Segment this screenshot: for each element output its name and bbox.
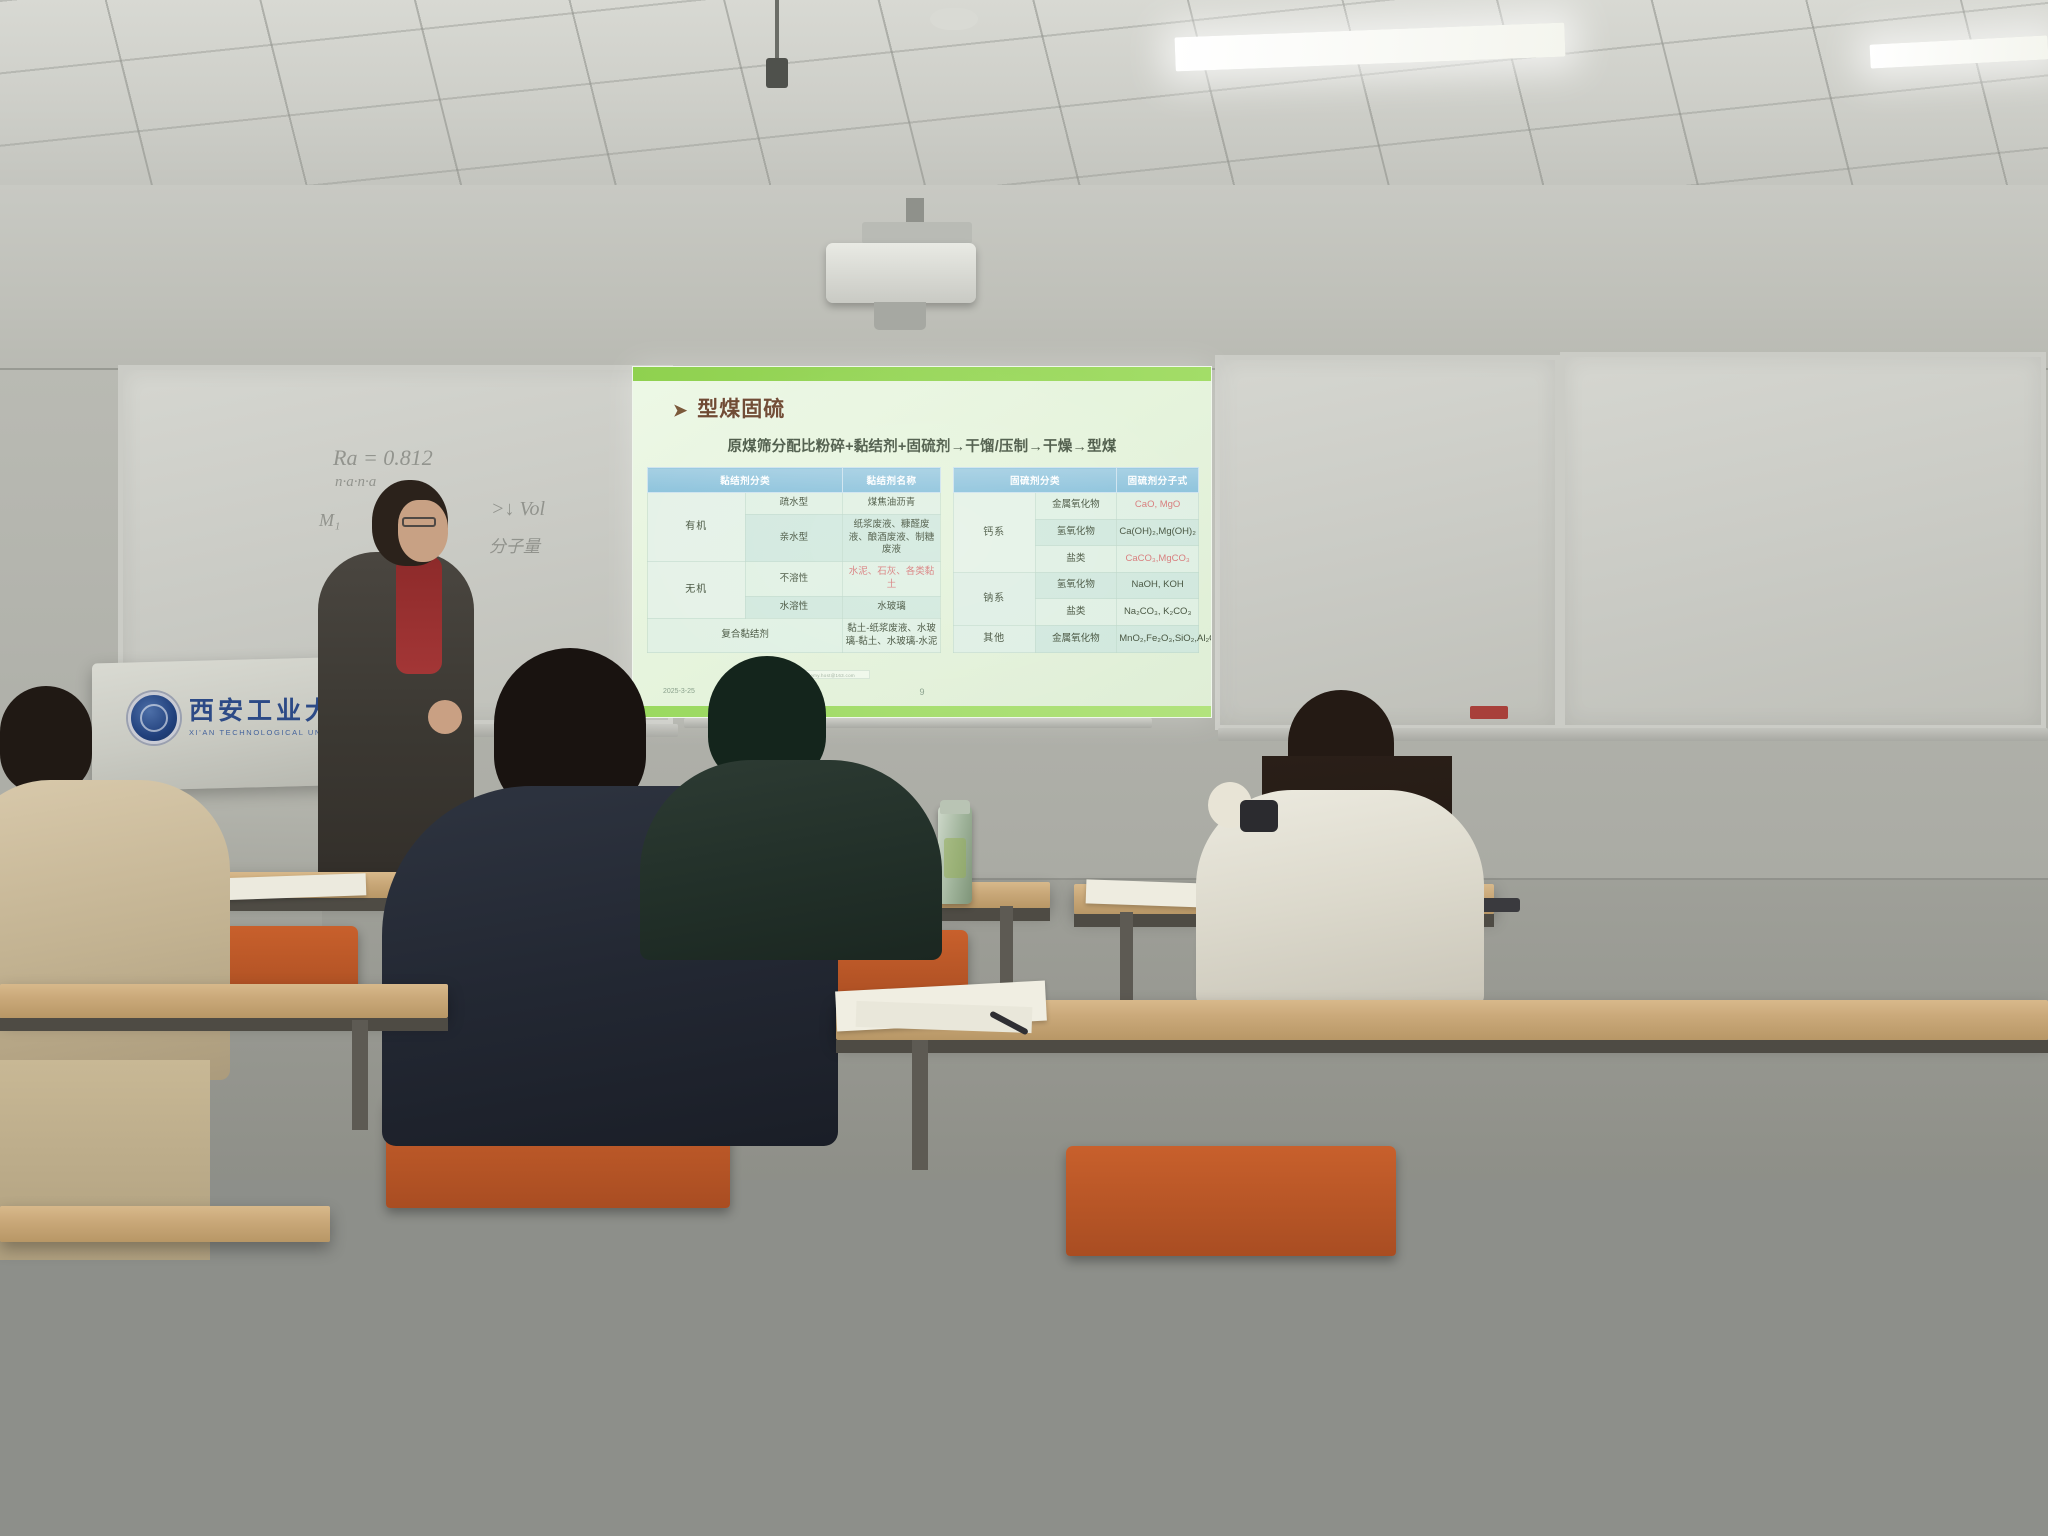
slide-title-text: 型煤固硫 bbox=[697, 398, 785, 421]
fixative-col-formula: 固硫剂分子式 bbox=[1117, 468, 1199, 493]
fixative-type: 盐类 bbox=[1035, 546, 1117, 573]
table-row: 复合黏结剂 黏土-纸浆废液、水玻璃-黏土、水玻璃-水泥 bbox=[648, 618, 941, 653]
whiteboard-right bbox=[1215, 355, 1560, 730]
table-row: 无机 不溶性 水泥、石灰、各类黏土 bbox=[648, 562, 941, 597]
desk-row-front-left bbox=[0, 984, 448, 1018]
glasses-icon bbox=[402, 517, 436, 527]
slide-tables: 黏结剂分类 黏结剂名称 有机 疏水型 煤焦油沥青 亲水型 纸浆废液、糠醛废液、酿… bbox=[647, 467, 1199, 653]
fixative-type: 氢氧化物 bbox=[1035, 519, 1117, 546]
marker-red-icon[interactable] bbox=[1470, 706, 1508, 719]
thermos-lid[interactable] bbox=[940, 800, 970, 814]
fixative-formula: Na₂CO₃, K₂CO₃ bbox=[1117, 599, 1199, 626]
binder-type: 疏水型 bbox=[745, 493, 843, 515]
binder-name: 水玻璃 bbox=[843, 596, 941, 618]
table-row: 钠系 氢氧化物 NaOH, KOH bbox=[953, 572, 1198, 599]
desk-leg bbox=[912, 1040, 928, 1170]
table-row: 钙系 金属氧化物 CaO, MgO bbox=[953, 493, 1198, 520]
binder-type: 水溶性 bbox=[745, 596, 843, 618]
ceiling bbox=[0, 0, 2048, 200]
fixative-type: 金属氧化物 bbox=[1035, 493, 1117, 520]
attendee-head bbox=[0, 686, 92, 794]
binder-group-inorganic: 无机 bbox=[648, 562, 746, 618]
slide-subtitle: 原煤筛分配比粉碎+黏结剂+固硫剂→干馏/压制→干燥→型煤 bbox=[633, 435, 1211, 456]
presentation-slide: ➤型煤固硫 原煤筛分配比粉碎+黏结剂+固硫剂→干馏/压制→干燥→型煤 黏结剂分类… bbox=[633, 367, 1211, 717]
chair[interactable] bbox=[1066, 1146, 1396, 1256]
ceiling-cable-box bbox=[766, 58, 788, 88]
desk-leg bbox=[1120, 912, 1133, 1002]
binder-col-classification: 黏结剂分类 bbox=[648, 468, 843, 493]
desk-row-foreground bbox=[0, 1206, 330, 1242]
binder-type-composite: 复合黏结剂 bbox=[648, 618, 843, 653]
whiteboard-far-right bbox=[1560, 352, 2046, 730]
sulfur-fixative-table: 固硫剂分类 固硫剂分子式 钙系 金属氧化物 CaO, MgO 氢氧化物 Ca(O… bbox=[953, 467, 1199, 653]
whiteboard-note: M₁ bbox=[319, 510, 340, 531]
fixative-formula: CaCO₃,MgCO₃ bbox=[1117, 546, 1199, 573]
slide-top-bar bbox=[633, 367, 1211, 381]
ceiling-tile-grid bbox=[0, 0, 2048, 200]
whiteboard-note: >↓ Vol bbox=[491, 498, 545, 521]
fixative-formula: MnO₂,Fe₂O₃,SiO₂,Al₂O₃ bbox=[1117, 625, 1199, 652]
classroom-scene: Ra = 0.812 n·a·n·a M₁ >↓ Vol 分子量 ➤型煤固硫 原… bbox=[0, 0, 2048, 1536]
attendee-body bbox=[640, 760, 942, 960]
desk-leg bbox=[352, 1020, 368, 1130]
fixative-formula: NaOH, KOH bbox=[1117, 572, 1199, 599]
projector bbox=[826, 243, 976, 303]
binder-name: 煤焦油沥青 bbox=[843, 493, 941, 515]
table-row: 有机 疏水型 煤焦油沥青 bbox=[648, 493, 941, 515]
teacher-hand bbox=[428, 700, 462, 734]
whiteboard-note: 分子量 bbox=[489, 532, 540, 557]
fixative-group-sodium: 钠系 bbox=[953, 572, 1035, 625]
projection-screen: ➤型煤固硫 原煤筛分配比粉碎+黏结剂+固硫剂→干馏/压制→干燥→型煤 黏结剂分类… bbox=[632, 366, 1212, 718]
binder-name: 水泥、石灰、各类黏土 bbox=[843, 562, 941, 597]
table-row: 其他 金属氧化物 MnO₂,Fe₂O₃,SiO₂,Al₂O₃ bbox=[953, 625, 1198, 652]
thermos-tea-contents bbox=[944, 838, 966, 878]
university-emblem-icon bbox=[128, 692, 180, 744]
binder-type: 不溶性 bbox=[745, 562, 843, 597]
binder-name: 纸浆废液、糠醛废液、酿酒废液、制糖废液 bbox=[843, 514, 941, 561]
fixative-col-classification: 固硫剂分类 bbox=[953, 468, 1116, 493]
teacher-face bbox=[398, 500, 448, 562]
table-header-row: 固硫剂分类 固硫剂分子式 bbox=[953, 468, 1198, 493]
whiteboard-note: n·a·n·a bbox=[335, 474, 376, 491]
projector-arm bbox=[862, 222, 972, 244]
binder-table: 黏结剂分类 黏结剂名称 有机 疏水型 煤焦油沥青 亲水型 纸浆废液、糠醛废液、酿… bbox=[647, 467, 941, 653]
binder-group-organic: 有机 bbox=[648, 493, 746, 562]
ceiling-cable bbox=[775, 0, 779, 62]
teacher-scarf bbox=[396, 556, 442, 674]
fixative-type: 氢氧化物 bbox=[1035, 572, 1117, 599]
fixative-group-calcium: 钙系 bbox=[953, 493, 1035, 573]
attendee-arm bbox=[1240, 800, 1278, 832]
binder-col-name: 黏结剂名称 bbox=[843, 468, 941, 493]
fixative-group-other: 其他 bbox=[953, 625, 1035, 652]
whiteboard-note: Ra = 0.812 bbox=[333, 445, 433, 471]
table-header-row: 黏结剂分类 黏结剂名称 bbox=[648, 468, 941, 493]
attendee-body bbox=[0, 780, 230, 1080]
binder-name-composite: 黏土-纸浆废液、水玻璃-黏土、水玻璃-水泥 bbox=[843, 618, 941, 653]
fixative-formula: Ca(OH)₂,Mg(OH)₂ bbox=[1117, 519, 1199, 546]
smoke-detector-icon bbox=[930, 8, 978, 30]
fixative-type: 盐类 bbox=[1035, 599, 1117, 626]
fixative-type: 金属氧化物 bbox=[1035, 625, 1117, 652]
desk-leg bbox=[1000, 906, 1013, 986]
projector-lens-icon bbox=[874, 302, 926, 330]
slide-title: ➤型煤固硫 bbox=[673, 393, 785, 423]
fixative-formula: CaO, MgO bbox=[1117, 493, 1199, 520]
arrow-bullet-icon: ➤ bbox=[673, 401, 688, 421]
binder-type: 亲水型 bbox=[745, 514, 843, 561]
